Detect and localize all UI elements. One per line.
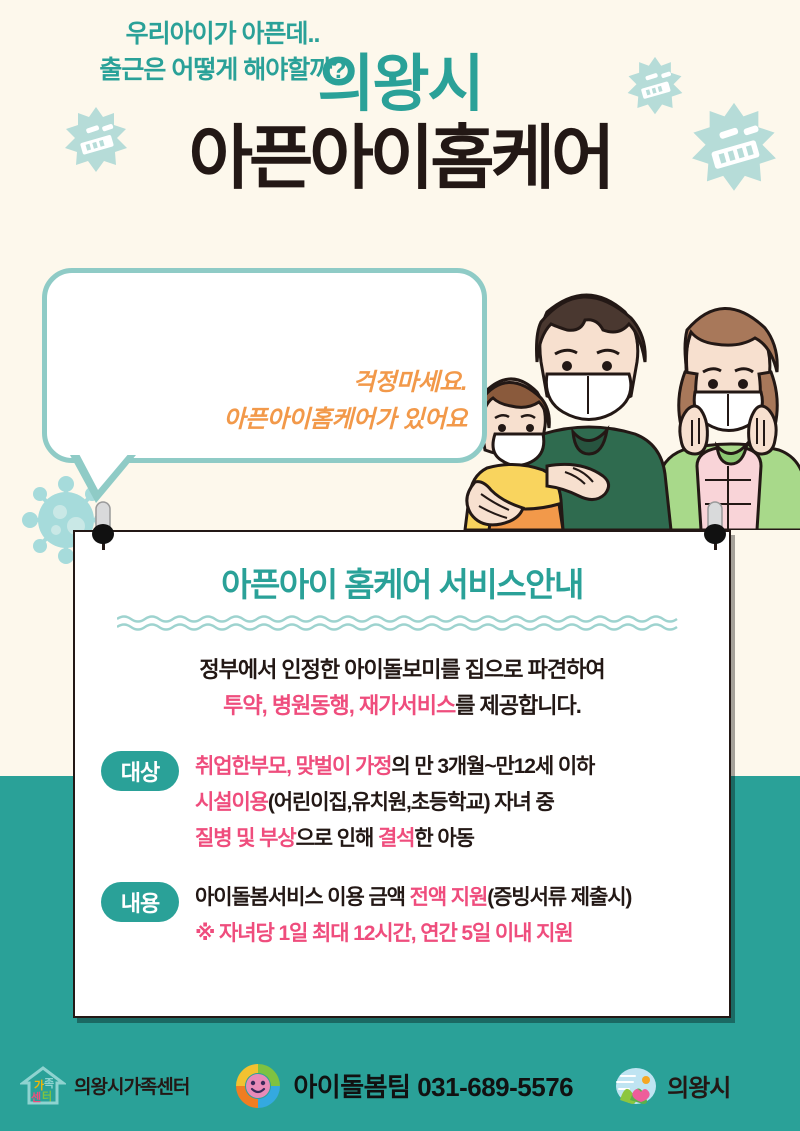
wave-divider [117,614,687,632]
target-line-2-seg-1: 시설이용 [195,791,268,814]
info-card: 아픈아이 홈케어 서비스안내 정부에서 인정한 아이돌보미를 집으로 파견하여 … [73,530,731,1018]
footer-care-team: 아이돌봄팀 031-689-5576 [233,1061,573,1111]
content-line-1-seg-3: (증빙서류 제출시) [487,886,631,909]
badge-target: 대상 [101,751,179,791]
footer-family-center: 가 족 센 터 의왕시가족센터 [20,1064,189,1108]
city-emblem-icon [613,1064,659,1108]
target-line-3-seg-3: 결석 [378,827,414,850]
section-row-content: 내용 아이돌봄서비스 이용 금액 전액 지원(증빙서류 제출시) ※ 자녀당 1… [101,880,729,952]
target-line-1: 취업한부모, 맞벌이 가정의 만 3개월~만12세 이하 [195,749,594,785]
card-title: 아픈아이 홈케어 서비스안내 [75,558,729,606]
card-lead-line2-highlight: 투약, 병원동행, 재가서비스 [223,693,455,718]
content-line-2: ※ 자녀당 1일 최대 12시간, 연간 5일 이내 지원 [195,916,631,952]
poster-root: 의왕시 아픈아이홈케어 [0,0,800,1131]
bubble-answer-line2: 아픈아이홈케어가 있어요 [42,401,467,438]
target-line-1-seg-1: 취업한부모, 맞벌이 가정 [195,755,391,778]
pushpin-left [88,500,124,555]
family-illustration [455,268,800,530]
footer-family-center-label: 의왕시가족센터 [74,1072,189,1099]
svg-text:가: 가 [34,1078,44,1092]
target-line-3-seg-1: 질병 및 부상 [195,827,296,850]
target-line-3: 질병 및 부상으로 인해 결석한 아동 [195,821,594,857]
badge-content: 내용 [101,882,179,922]
card-lead-line2: 투약, 병원동행, 재가서비스를 제공합니다. [75,688,729,724]
svg-text:족: 족 [44,1077,54,1090]
content-line-1: 아이돌봄서비스 이용 금액 전액 지원(증빙서류 제출시) [195,880,631,916]
care-smiley-icon [233,1061,283,1111]
house-logo-icon: 가 족 센 터 [20,1064,66,1108]
title-program: 아픈아이홈케어 [0,121,800,197]
svg-text:센: 센 [31,1090,41,1104]
footer-bar: 가 족 센 터 의왕시가족센터 아이돌봄팀 031-689-5576 [0,1040,800,1131]
section-content-lines: 아이돌봄서비스 이용 금액 전액 지원(증빙서류 제출시) ※ 자녀당 1일 최… [195,880,631,952]
speech-bubble-tail-inner [78,452,130,490]
card-lead-line1: 정부에서 인정한 아이돌보미를 집으로 파견하여 [75,652,729,688]
footer-city-label: 의왕시 [667,1068,730,1103]
content-line-2-seg-1: ※ 자녀당 1일 최대 12시간, 연간 5일 이내 지원 [195,922,573,945]
section-row-target: 대상 취업한부모, 맞벌이 가정의 만 3개월~만12세 이하 시설이용(어린이… [101,749,729,857]
target-line-3-seg-4: 한 아동 [414,827,473,850]
target-line-2-seg-2: (어린이집,유치원,초등학교) 자녀 중 [268,791,554,814]
bubble-question: 우리아이가 아픈데.. 출근은 어떻게 해야할까? [0,16,445,89]
content-line-1-seg-1: 아이돌봄서비스 이용 금액 [195,886,410,909]
footer-city: 의왕시 [613,1064,730,1108]
bubble-answer-line1: 걱정마세요. [42,364,467,401]
target-line-1-seg-2: 의 만 3개월~만12세 이하 [391,755,594,778]
card-lead: 정부에서 인정한 아이돌보미를 집으로 파견하여 투약, 병원동행, 재가서비스… [75,652,729,723]
svg-text:터: 터 [42,1089,52,1103]
content-line-1-seg-2: 전액 지원 [410,886,488,909]
section-target-lines: 취업한부모, 맞벌이 가정의 만 3개월~만12세 이하 시설이용(어린이집,유… [195,749,594,857]
bubble-answer: 걱정마세요. 아픈아이홈케어가 있어요 [42,364,467,438]
target-line-2: 시설이용(어린이집,유치원,초등학교) 자녀 중 [195,785,594,821]
bubble-question-line1: 우리아이가 아픈데.. [0,16,445,52]
bubble-question-line2: 출근은 어떻게 해야할까? [0,52,445,88]
pushpin-right [700,500,736,555]
footer-care-team-label: 아이돌봄팀 031-689-5576 [293,1067,573,1104]
target-line-3-seg-2: 으로 인해 [296,827,378,850]
card-lead-line2-rest: 를 제공합니다. [455,693,581,718]
